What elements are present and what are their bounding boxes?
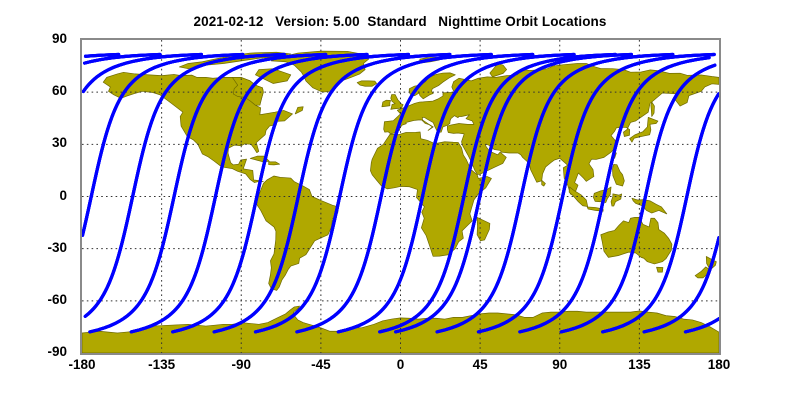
y-tick-label: -30: [7, 240, 67, 255]
landmass-ireland: [382, 100, 391, 107]
x-tick-label: -90: [201, 357, 281, 372]
x-tick-label: 90: [520, 357, 600, 372]
landmass-newfoundland: [295, 107, 303, 114]
page-title: 2021-02-12 Version: 5.00 Standard Nightt…: [0, 14, 800, 29]
landmass-sakhalin: [651, 102, 655, 117]
landmass-tasmania: [657, 267, 663, 272]
y-tick-label: -60: [7, 292, 67, 307]
landmass-srilanka: [542, 180, 546, 186]
orbit-track-e4: [86, 54, 119, 56]
x-tick-label: -45: [281, 357, 361, 372]
landmass-madagascar: [477, 217, 490, 240]
landmass-newguinea: [632, 198, 667, 214]
y-tick-label: 30: [7, 135, 67, 150]
landmass-philippines: [612, 164, 624, 186]
orbit-map-figure: 2021-02-12 Version: 5.00 Standard Nightt…: [0, 0, 800, 400]
map-plot-area: [80, 38, 721, 355]
landmass-uk: [391, 95, 403, 110]
y-tick-label: 90: [7, 31, 67, 46]
x-tick-label: 180: [679, 357, 759, 372]
x-tick-label: 135: [599, 357, 679, 372]
landmass-hispaniola: [269, 162, 280, 165]
y-tick-label: 0: [7, 188, 67, 203]
x-tick-label: 45: [440, 357, 520, 372]
x-tick-label: 0: [361, 357, 441, 372]
landmass-iceland: [357, 81, 376, 86]
landmass-sulawesi: [611, 194, 622, 206]
map-canvas: [82, 40, 719, 353]
x-tick-label: -135: [122, 357, 202, 372]
x-tick-label: -180: [42, 357, 122, 372]
y-tick-label: 60: [7, 83, 67, 98]
